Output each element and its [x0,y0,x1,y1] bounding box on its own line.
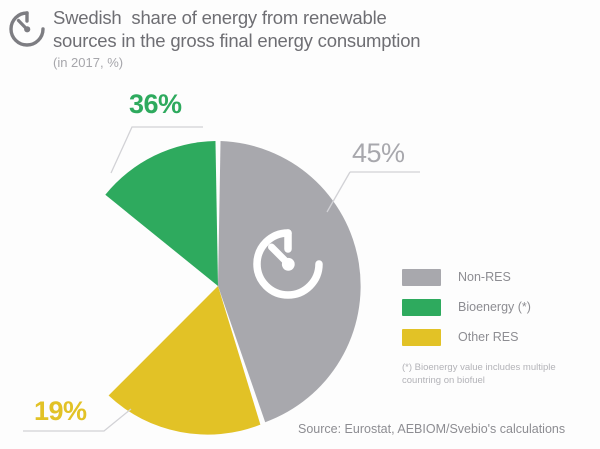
legend-item-bioenergy: Bioenergy (*) [402,292,592,322]
legend-swatch-bioenergy [402,299,441,316]
legend-footnote: (*) Bioenergy value includes multiple co… [402,361,592,387]
legend-label-other-res: Other RES [458,330,518,344]
data-label-bioenergy: 36% [129,89,182,120]
legend: Non-RES Bioenergy (*) Other RES [402,262,592,352]
data-label-other-res: 19% [34,396,87,427]
renewable-energy-pie-infographic: Swedish share of energy from renewable s… [0,0,600,449]
data-label-non-res: 45% [352,138,405,169]
legend-label-non-res: Non-RES [458,270,511,284]
pie-slice-bioenergy [105,141,218,286]
source-note: Source: Eurostat, AEBIOM/Svebio's calcul… [298,422,565,436]
legend-swatch-other-res [402,329,441,346]
legend-swatch-non-res [402,269,441,286]
legend-item-non-res: Non-RES [402,262,592,292]
legend-label-bioenergy: Bioenergy (*) [458,300,531,314]
leader-line-non-res-tail [327,172,350,212]
legend-item-other-res: Other RES [402,322,592,352]
